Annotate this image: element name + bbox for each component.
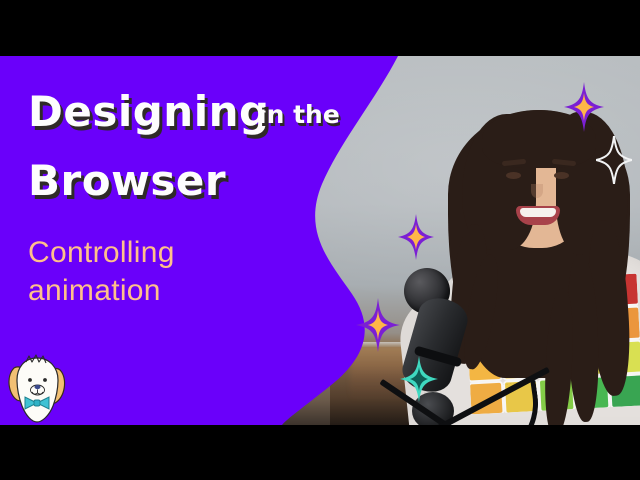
subtitle-line-1: Controlling <box>28 234 175 272</box>
sparkle-white-right-icon <box>596 136 632 184</box>
title-line-2: Browser <box>28 156 226 205</box>
subtitle-line-2: animation <box>28 272 175 310</box>
video-frame: Designing in the Browser Controlling ani… <box>0 56 640 425</box>
sparkle-teal-lower-icon <box>400 356 438 402</box>
letterbox-top <box>0 0 640 56</box>
sparkle-purple-lower-left-icon <box>356 298 400 352</box>
sparkle-purple-mic-icon <box>398 214 434 260</box>
title-line-1-small: in the <box>258 100 340 129</box>
subtitle: Controlling animation <box>28 234 175 310</box>
letterbox-bottom <box>0 425 640 480</box>
dog-logo <box>4 350 70 424</box>
sparkle-purple-upper-right-icon <box>564 82 604 132</box>
title-line-1: Designing <box>28 87 270 136</box>
video-thumbnail: Designing in the Browser Controlling ani… <box>0 0 640 480</box>
